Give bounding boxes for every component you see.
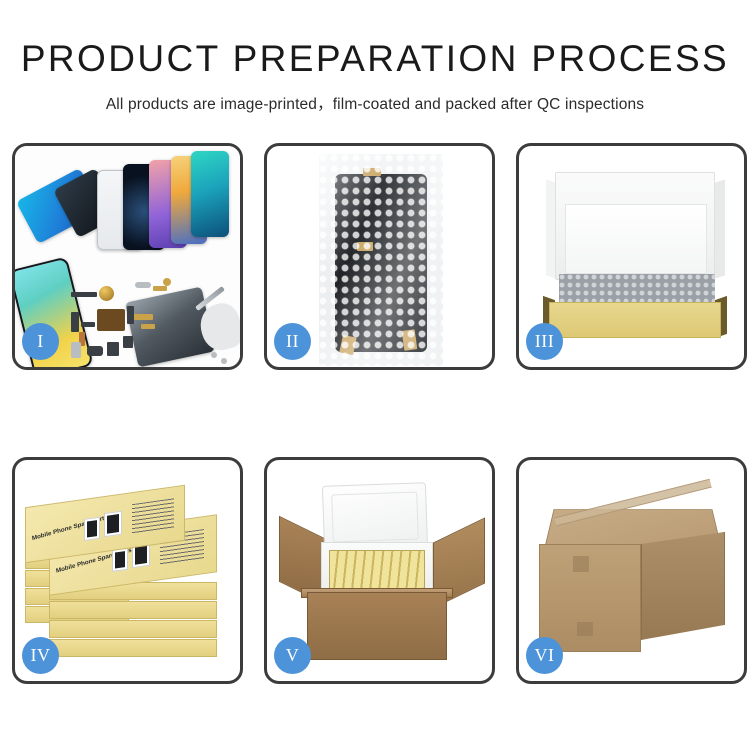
kraft-box-front-icon bbox=[549, 302, 721, 338]
step-badge-6: VI bbox=[526, 637, 563, 674]
foam-sheet-icon bbox=[565, 204, 707, 274]
step-badge-5: V bbox=[274, 637, 311, 674]
process-step-1[interactable]: I bbox=[12, 143, 243, 370]
process-step-4[interactable]: Mobile Phone Spare Parts Mobile Phone Sp… bbox=[12, 457, 243, 684]
connector-grid-icon bbox=[97, 309, 125, 331]
process-step-grid: I II bbox=[12, 143, 738, 684]
plastic-sheen-overlay bbox=[319, 154, 443, 366]
step-badge-1: I bbox=[22, 323, 59, 360]
step-badge-4: IV bbox=[22, 637, 59, 674]
step-badge-3: III bbox=[526, 323, 563, 360]
teal-phone-icon bbox=[191, 151, 229, 237]
page-subtitle: All products are image-printed，film-coat… bbox=[0, 92, 750, 114]
process-step-3[interactable]: III bbox=[516, 143, 747, 370]
carton-side-icon bbox=[641, 532, 725, 640]
carton-tab-lower-icon bbox=[577, 622, 593, 636]
process-step-2[interactable]: II bbox=[264, 143, 495, 370]
step-badge-2: II bbox=[274, 323, 311, 360]
speaker-coil-icon bbox=[99, 286, 114, 301]
page-title: PRODUCT PREPARATION PROCESS bbox=[0, 40, 750, 77]
process-step-5[interactable]: V bbox=[264, 457, 495, 684]
process-step-6[interactable]: VI bbox=[516, 457, 747, 684]
header: PRODUCT PREPARATION PROCESS All products… bbox=[0, 0, 750, 114]
carton-body-icon bbox=[307, 592, 447, 660]
product-preparation-infographic: PRODUCT PREPARATION PROCESS All products… bbox=[0, 0, 750, 750]
carton-tab-upper-icon bbox=[573, 556, 589, 572]
packed-yellow-boxes-icon bbox=[329, 550, 425, 590]
